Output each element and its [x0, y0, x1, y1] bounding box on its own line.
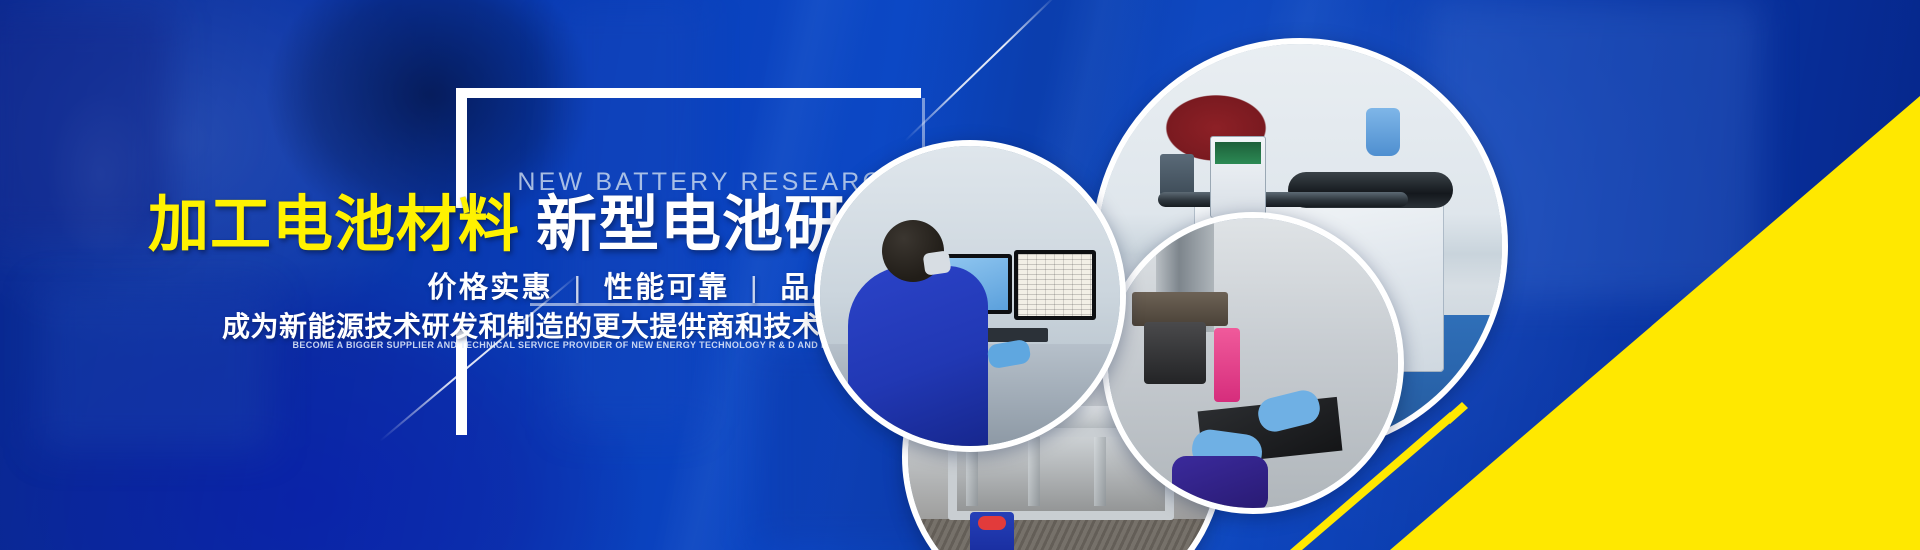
press-station-sleeve: [1172, 456, 1268, 512]
promo-banner: NEW BATTERY RESEARCH 加工电池材料新型电池研究 价格实惠 |…: [0, 0, 1920, 550]
production-line-floor: [908, 519, 1218, 550]
workstation-monitor-right: [1014, 250, 1096, 320]
press-station-photo-inner: [1108, 218, 1398, 508]
press-station-pink-handle: [1214, 328, 1240, 402]
coating-machine-bin: [1160, 154, 1194, 196]
engineer-workstation-photo-inner: [820, 146, 1120, 446]
engineer-face-mask: [923, 250, 952, 275]
coating-machine-control-panel: [1210, 136, 1266, 218]
production-line-drum-label: [978, 516, 1006, 530]
press-station-ram: [1132, 292, 1228, 326]
press-station-photo: [1102, 212, 1404, 514]
engineer-workstation-photo: [814, 140, 1126, 452]
engineer-body: [848, 266, 988, 451]
coating-machine-main-roller: [1158, 192, 1408, 207]
coating-machine-water-bottle: [1366, 108, 1400, 156]
press-station-tooling: [1144, 322, 1206, 384]
